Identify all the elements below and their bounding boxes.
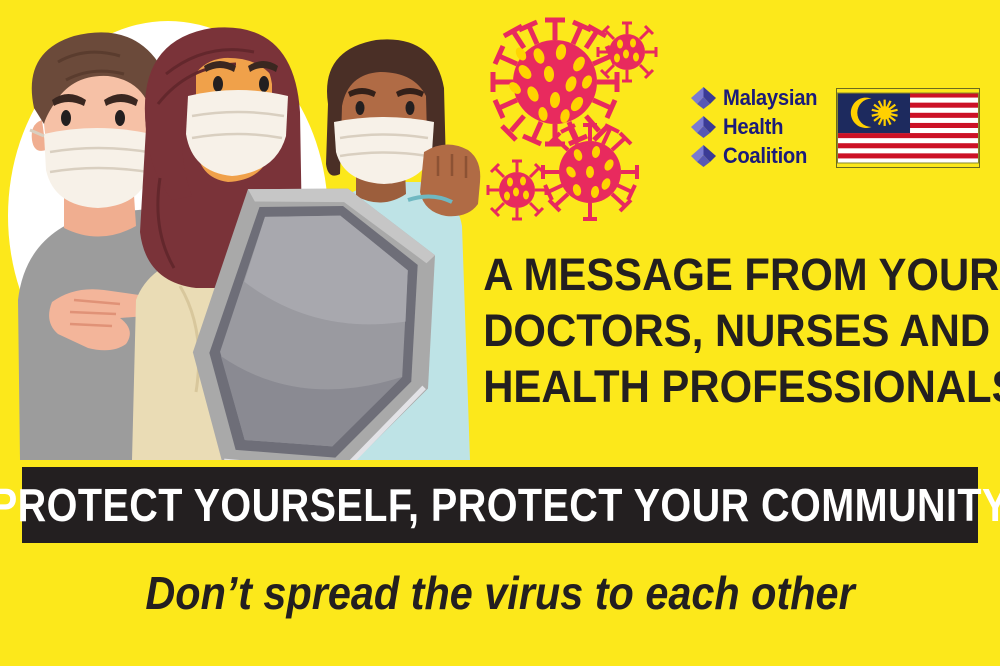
malaysia-flag-icon (836, 88, 980, 168)
virus-small-top (598, 23, 656, 81)
headline-line-3: HEALTH PROFESSIONALS (483, 359, 967, 415)
woman-center-eye-left (213, 76, 223, 92)
headline-line-2: DOCTORS, NURSES AND (483, 303, 967, 359)
virus-medium (543, 125, 637, 219)
headline-line-1: A MESSAGE FROM YOUR (483, 247, 967, 303)
poster-canvas: Malaysian Health Coalition (0, 0, 1000, 666)
logo-word-health: Health (723, 116, 783, 138)
woman-right-eye-right (406, 101, 415, 115)
tagline: Don’t spread the virus to each other (0, 566, 1000, 620)
virus-large (493, 20, 617, 144)
virus-particles-group (465, 10, 680, 225)
illustration-people-with-shield (0, 0, 500, 460)
chevron-diamond-icon (690, 86, 717, 110)
man-eye-left (61, 110, 71, 126)
call-to-action-banner: PROTECT YOURSELF, PROTECT YOUR COMMUNITY (22, 467, 978, 543)
logo-row-health: Health (690, 113, 825, 141)
chevron-diamond-icon (690, 115, 717, 139)
page-title: A MESSAGE FROM YOUR DOCTORS, NURSES AND … (465, 247, 985, 415)
man-eye-right (115, 110, 125, 126)
tagline-text: Don’t spread the virus to each other (145, 566, 854, 620)
woman-center-eye-right (259, 76, 269, 92)
woman-right-face-mask (334, 117, 434, 184)
flag-canton (837, 93, 910, 134)
chevron-diamond-icon (690, 144, 717, 168)
logo-row-coalition: Coalition (690, 142, 825, 170)
woman-right-eye-left (356, 101, 365, 115)
logo-row-malaysian: Malaysian (690, 84, 825, 112)
organization-logo-block: Malaysian Health Coalition (690, 84, 990, 176)
virus-small-left (488, 161, 546, 219)
banner-text: PROTECT YOURSELF, PROTECT YOUR COMMUNITY (0, 482, 1000, 528)
logo-wordmark: Malaysian Health Coalition (690, 84, 825, 170)
logo-word-malaysian: Malaysian (723, 87, 817, 109)
logo-word-coalition: Coalition (723, 145, 807, 167)
